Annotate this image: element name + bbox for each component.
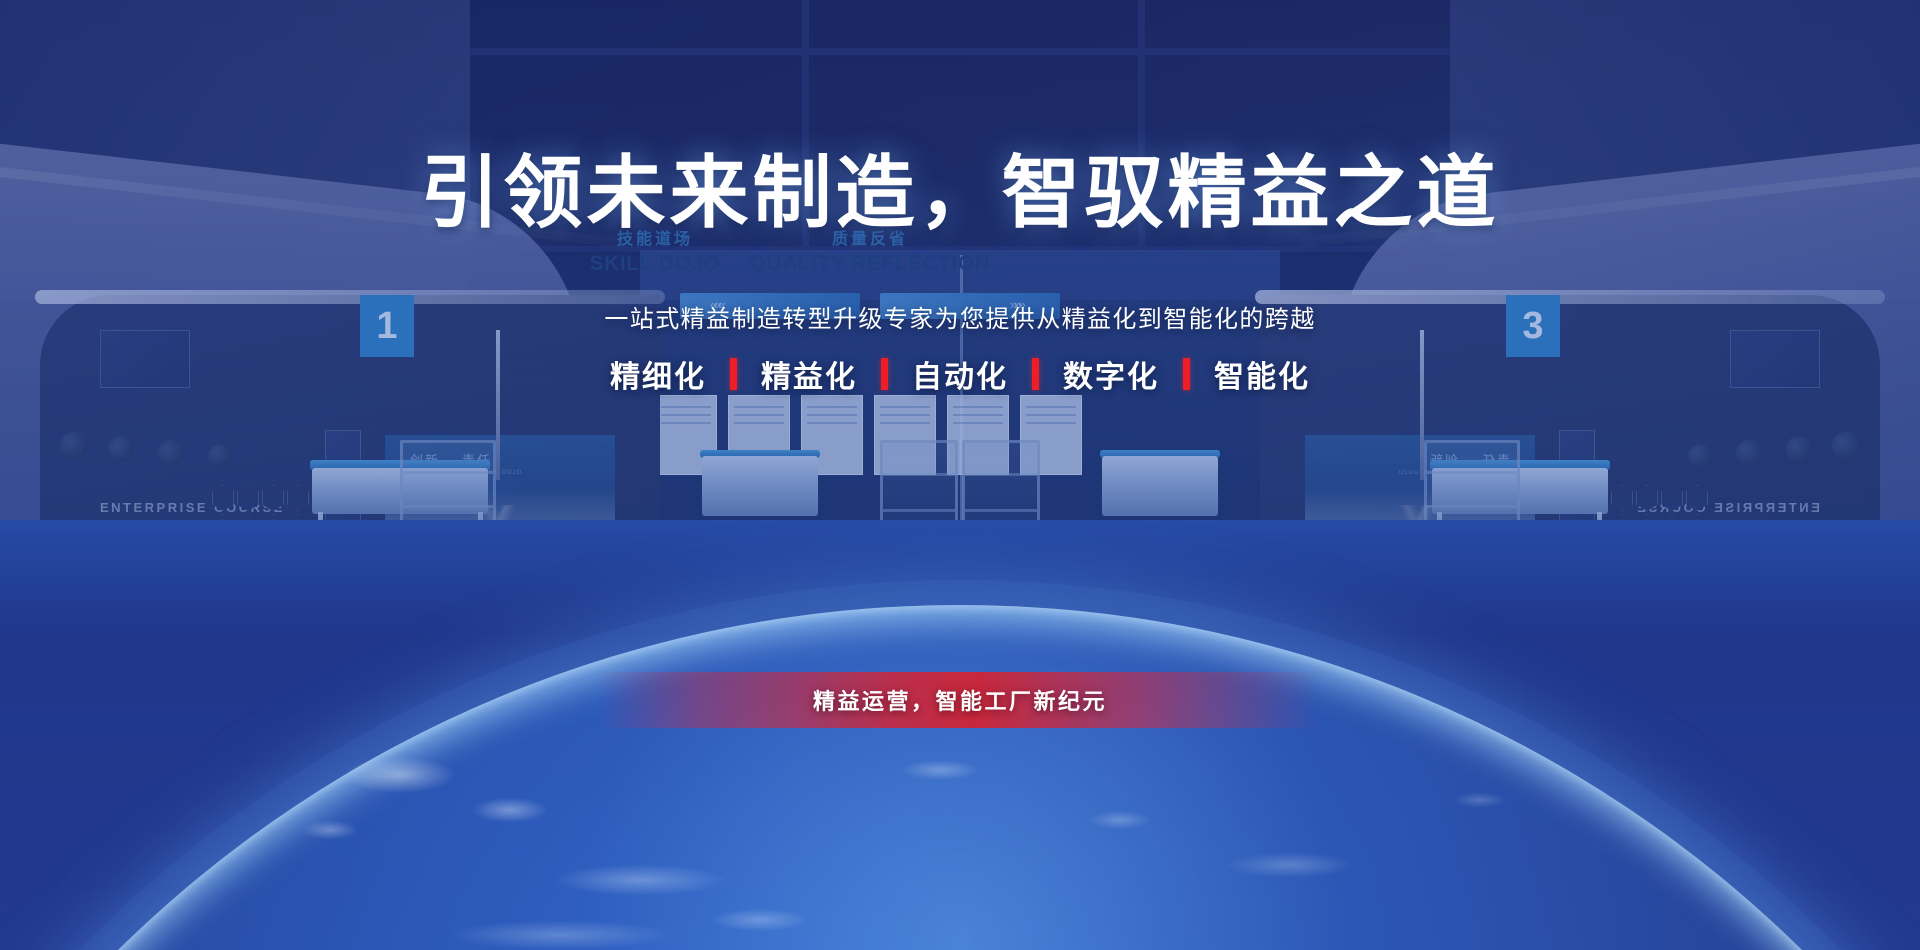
hero-content: 引领未来制造，智驭精益之道 一站式精益制造转型升级专家为您提供从精益化到智能化的… <box>0 0 1920 950</box>
keyword-separator <box>881 358 888 390</box>
keyword-separator <box>1032 358 1039 390</box>
keyword-item-1: 精益化 <box>737 352 881 396</box>
keyword-separator <box>730 358 737 390</box>
hero-banner: 技能道场 SKILL DOJO 质量反省 QUALITY REFLECTION … <box>0 0 1920 950</box>
keyword-item-2: 自动化 <box>888 352 1032 396</box>
keyword-item-4: 智能化 <box>1190 352 1334 396</box>
hero-subtitle: 一站式精益制造转型升级专家为您提供从精益化到智能化的跨越 <box>0 299 1920 334</box>
keyword-list: 精细化 精益化 自动化 数字化 智能化 <box>0 352 1920 396</box>
page-title: 引领未来制造，智驭精益之道 <box>0 128 1920 243</box>
keyword-item-3: 数字化 <box>1039 352 1183 396</box>
keyword-item-0: 精细化 <box>586 352 730 396</box>
keyword-separator <box>1183 358 1190 390</box>
tagline-ribbon: 精益运营，智能工厂新纪元 <box>600 672 1320 728</box>
tagline-text: 精益运营，智能工厂新纪元 <box>813 684 1107 716</box>
